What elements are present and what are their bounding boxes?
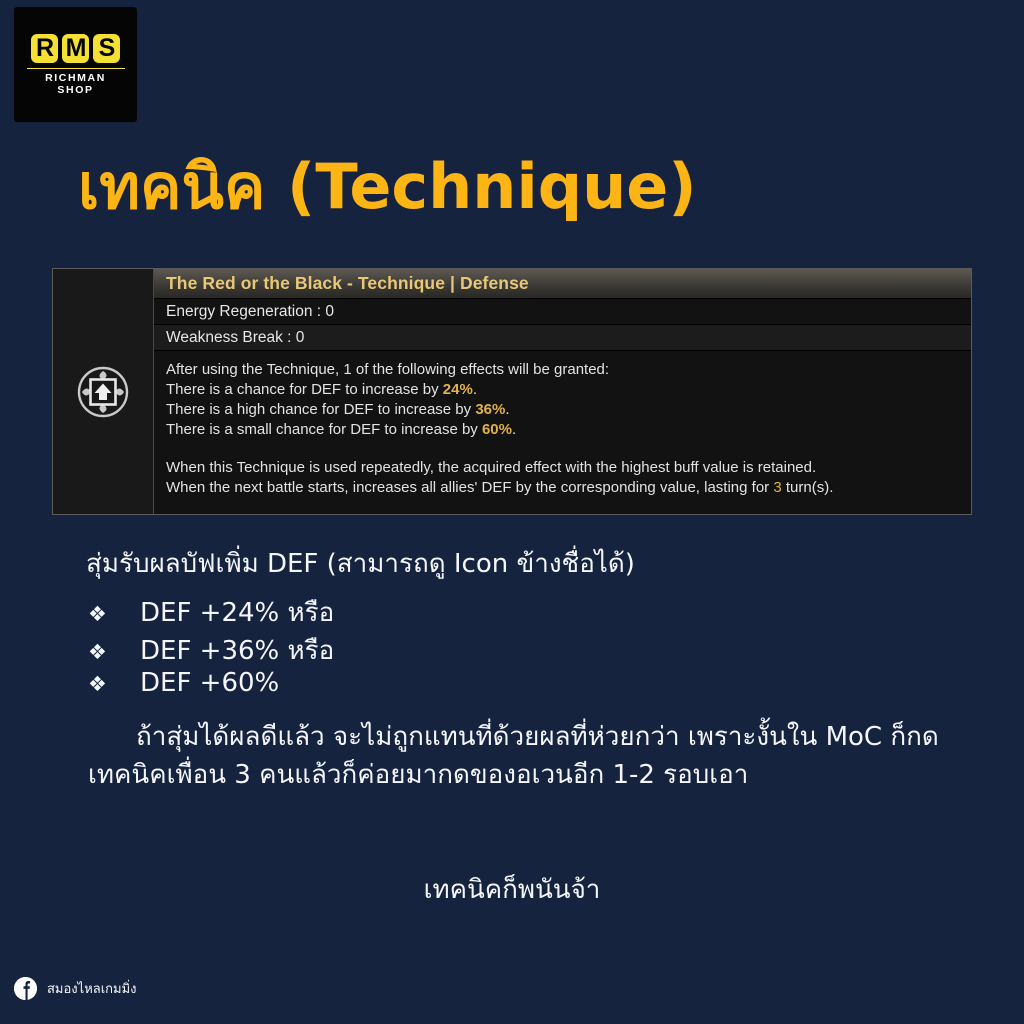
- tooltip-description: After using the Technique, 1 of the foll…: [154, 351, 972, 498]
- logo-subtitle: RICHMAN SHOP: [27, 68, 125, 96]
- description-note-line-1: When this Technique is used repeatedly, …: [166, 458, 962, 478]
- stat-row-weakness-break: Weakness Break : 0: [154, 325, 972, 351]
- technique-tooltip-panel: The Red or the Black - Technique | Defen…: [52, 268, 972, 515]
- description-spacer: [166, 440, 962, 458]
- effect-2-prefix: There is a high chance for DEF to increa…: [166, 401, 475, 418]
- effect-1-prefix: There is a chance for DEF to increase by: [166, 381, 443, 398]
- stat-row-energy-regeneration: Energy Regeneration : 0: [154, 299, 972, 325]
- page-title: เทคนิค (Technique): [78, 138, 697, 236]
- defense-buff-icon: [76, 365, 130, 419]
- list-item: ❖ DEF +24% หรือ: [88, 592, 334, 630]
- list-item-label: DEF +24% หรือ: [140, 592, 334, 633]
- tooltip-title: The Red or the Black - Technique | Defen…: [166, 273, 529, 294]
- effect-line-2: There is a high chance for DEF to increa…: [166, 400, 962, 420]
- note-2-duration: 3: [773, 479, 781, 496]
- tooltip-body: The Red or the Black - Technique | Defen…: [154, 269, 972, 514]
- diamond-bullet-icon: ❖: [88, 640, 140, 664]
- effect-3-suffix: .: [512, 421, 516, 438]
- logo-tile-r: R: [31, 34, 58, 63]
- effect-3-prefix: There is a small chance for DEF to incre…: [166, 421, 482, 438]
- list-item-label: DEF +36% หรือ: [140, 630, 334, 671]
- stat-label-energy-regeneration: Energy Regeneration : 0: [166, 303, 334, 321]
- effect-1-suffix: .: [473, 381, 477, 398]
- footer-page-name: สมองไหลเกมมิ่ง: [47, 978, 137, 999]
- tooltip-icon-column: [53, 269, 154, 514]
- diamond-bullet-icon: ❖: [88, 602, 140, 626]
- closing-line: เทคนิคก็พนันจ้า: [0, 869, 1024, 910]
- effect-2-suffix: .: [505, 401, 509, 418]
- effect-2-value: 36%: [475, 401, 505, 418]
- footer: สมองไหลเกมมิ่ง: [14, 977, 137, 1000]
- lead-line: สุ่มรับผลบัฟเพิ่ม DEF (สามารถดู Icon ข้า…: [86, 543, 635, 584]
- description-intro: After using the Technique, 1 of the foll…: [166, 360, 962, 380]
- list-item: ❖ DEF +60%: [88, 668, 334, 706]
- description-note-line-2: When the next battle starts, increases a…: [166, 478, 962, 498]
- logo-letters: R M S: [31, 34, 120, 63]
- note-2-prefix: When the next battle starts, increases a…: [166, 479, 773, 496]
- list-item-label: DEF +60%: [140, 668, 279, 698]
- effect-1-value: 24%: [443, 381, 473, 398]
- list-item: ❖ DEF +36% หรือ: [88, 630, 334, 668]
- logo-tile-m: M: [62, 34, 89, 63]
- effect-line-1: There is a chance for DEF to increase by…: [166, 380, 962, 400]
- note-2-suffix: turn(s).: [782, 479, 834, 496]
- facebook-icon[interactable]: [14, 977, 37, 1000]
- body-paragraph: ถ้าสุ่มได้ผลดีแล้ว จะไม่ถูกแทนที่ด้วยผลท…: [88, 718, 946, 794]
- logo-tile-s: S: [93, 34, 120, 63]
- brand-logo: R M S RICHMAN SHOP: [14, 7, 137, 122]
- effect-line-3: There is a small chance for DEF to incre…: [166, 420, 962, 440]
- diamond-bullet-icon: ❖: [88, 672, 140, 696]
- effect-3-value: 60%: [482, 421, 512, 438]
- tooltip-title-row: The Red or the Black - Technique | Defen…: [154, 269, 972, 299]
- buff-bullet-list: ❖ DEF +24% หรือ ❖ DEF +36% หรือ ❖ DEF +6…: [88, 592, 334, 706]
- stat-label-weakness-break: Weakness Break : 0: [166, 329, 304, 347]
